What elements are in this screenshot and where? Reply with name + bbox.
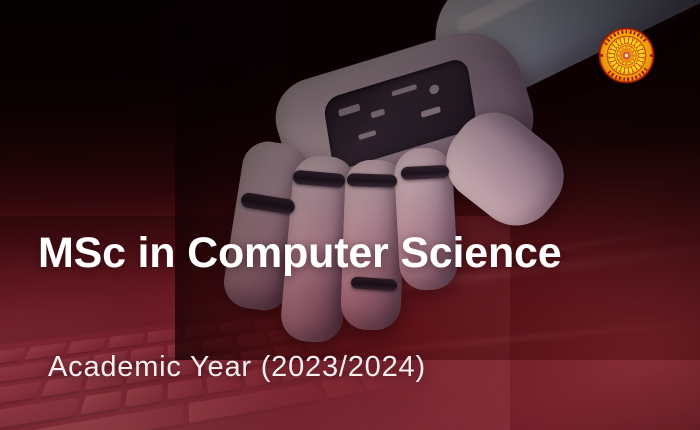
robot-joint: [347, 173, 397, 188]
course-banner: MSc in Computer Science Academic Year (2…: [0, 0, 700, 430]
university-crest-icon: [598, 27, 655, 84]
robot-detail-chip: [429, 83, 440, 95]
page-title: MSc in Computer Science: [38, 231, 561, 276]
robot-detail-chip: [391, 84, 417, 97]
robot-joint: [401, 165, 450, 180]
academic-year-subtitle: Academic Year (2023/2024): [48, 352, 426, 384]
robot-detail-chip: [421, 106, 441, 118]
robot-detail-chip: [338, 103, 360, 116]
robot-detail-chip: [358, 130, 376, 140]
robot-detail-chip: [371, 108, 385, 118]
